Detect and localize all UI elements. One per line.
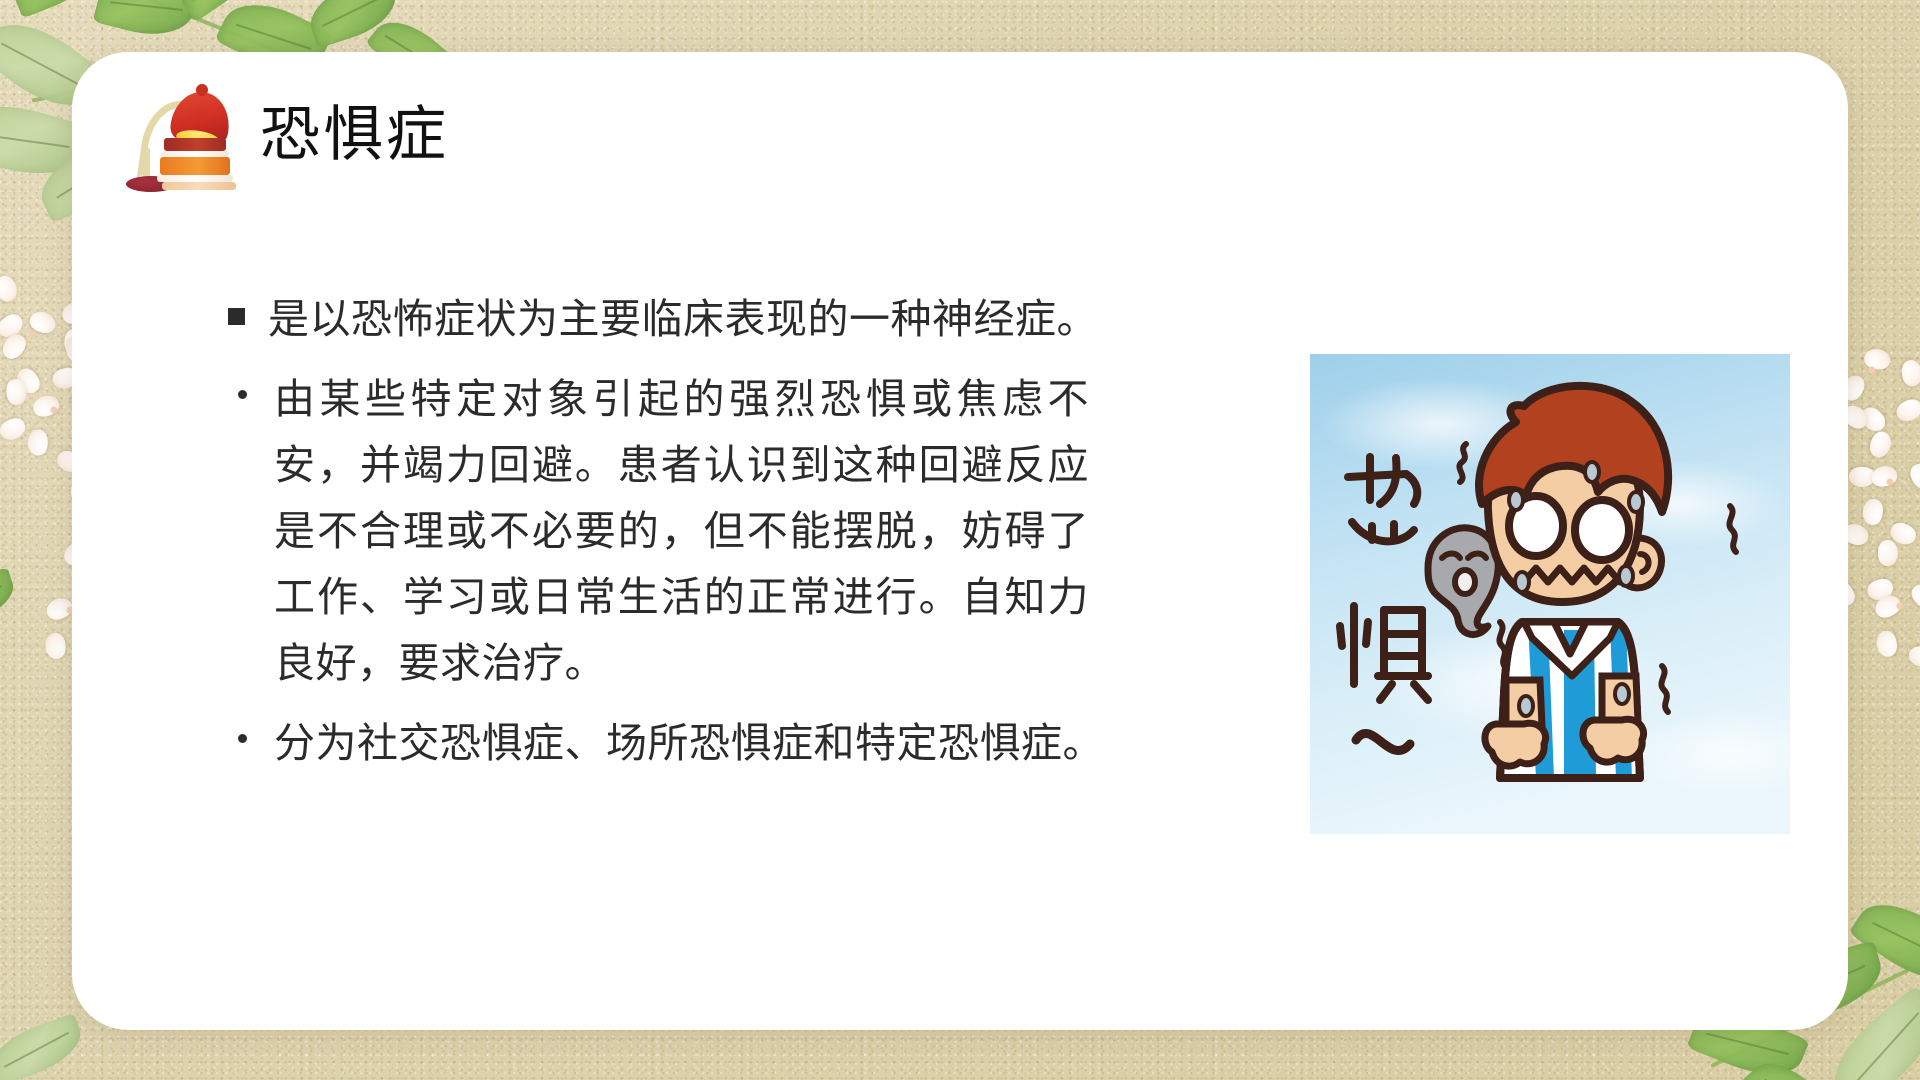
bullet-text: 是以恐怖症状为主要临床表现的一种神经症。 — [268, 286, 1292, 352]
slide-header: 恐惧症 — [120, 76, 449, 194]
list-item: 由某些特定对象引起的强烈恐惧或焦虑不安，并竭力回避。患者认识到这种回避反应是不合… — [222, 366, 1292, 696]
content-card: 恐惧症 是以恐怖症状为主要临床表现的一种神经症。 由某些特定对象引起的强烈恐惧或… — [72, 52, 1848, 1030]
list-item: 分为社交恐惧症、场所恐惧症和特定恐惧症。 — [222, 710, 1292, 776]
bullet-marker-dot — [222, 366, 274, 430]
bullet-list: 是以恐怖症状为主要临床表现的一种神经症。 由某些特定对象引起的强烈恐惧或焦虑不安… — [222, 286, 1292, 790]
bullet-marker-dot — [222, 710, 274, 774]
bullet-text: 由某些特定对象引起的强烈恐惧或焦虑不安，并竭力回避。患者认识到这种回避反应是不合… — [274, 366, 1089, 696]
slide-canvas: 恐惧症 是以恐怖症状为主要临床表现的一种神经症。 由某些特定对象引起的强烈恐惧或… — [0, 0, 1920, 1080]
page-title: 恐惧症 — [260, 105, 449, 165]
list-item: 是以恐怖症状为主要临床表现的一种神经症。 — [222, 286, 1292, 352]
frightened-boy-with-ghost-illustration — [1310, 354, 1790, 834]
desk-lamp-books-icon — [120, 76, 232, 194]
bullet-marker-square — [222, 286, 268, 350]
bullet-text: 分为社交恐惧症、场所恐惧症和特定恐惧症。 — [274, 710, 1292, 776]
